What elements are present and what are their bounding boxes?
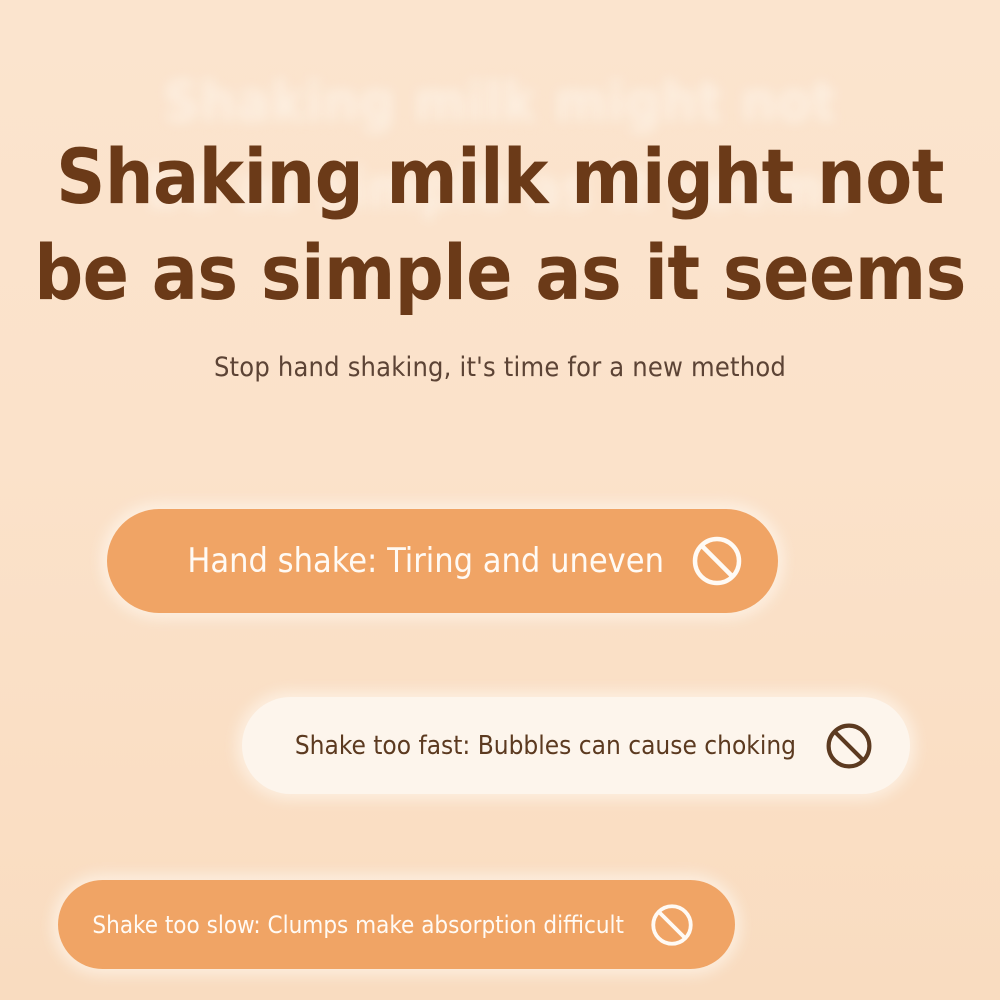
page-title: Shaking milk might not be as simple as i…: [0, 129, 1000, 321]
prohibition-icon: [649, 902, 695, 948]
problem-item-shake-too-slow[interactable]: Shake too slow: Clumps make absorption d…: [58, 880, 735, 969]
problem-item-shake-too-fast[interactable]: Shake too fast: Bubbles can cause chokin…: [242, 697, 910, 794]
problem-item-label: Shake too fast: Bubbles can cause chokin…: [295, 731, 796, 761]
prohibition-icon: [690, 534, 744, 588]
promo-poster: Shaking milk might not be as simple as i…: [0, 0, 1000, 1000]
page-subtitle: Stop hand shaking, it's time for a new m…: [0, 352, 1000, 383]
problem-item-hand-shake[interactable]: Hand shake: Tiring and uneven: [107, 509, 778, 613]
problem-item-label: Hand shake: Tiring and uneven: [187, 541, 664, 581]
problem-item-label: Shake too slow: Clumps make absorption d…: [92, 911, 624, 939]
prohibition-icon: [824, 721, 874, 771]
